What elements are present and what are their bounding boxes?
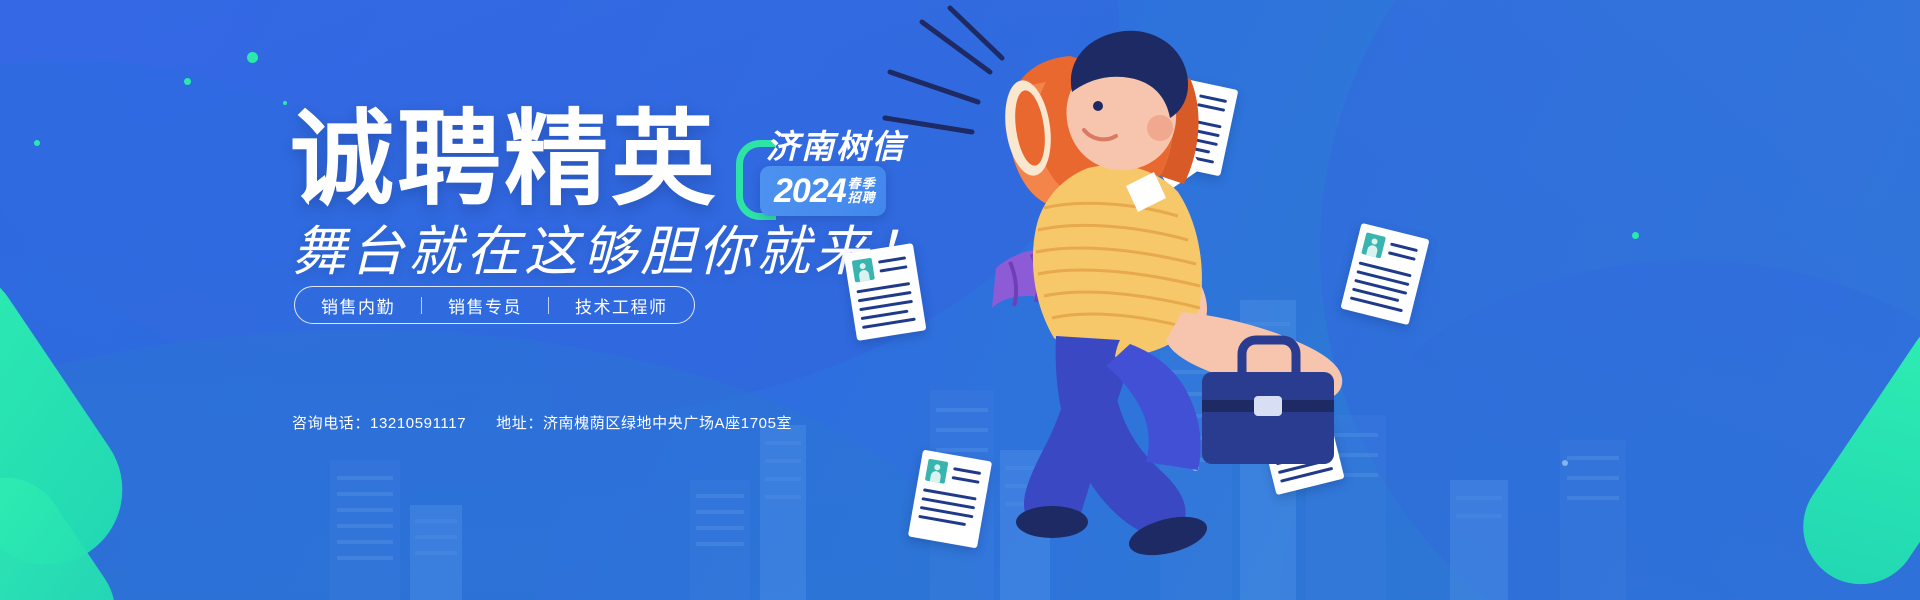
recruitment-banner: 诚聘精英 济南树信 2024 春季 招聘 舞台就在这够胆你就来！ 销售内勤 销售… (0, 0, 1920, 600)
job-separator (421, 297, 422, 314)
person-back-shoe (1016, 506, 1088, 538)
recruitment-illustration (830, 0, 1920, 600)
page-title: 诚聘精英 (290, 108, 718, 212)
job-item-technical-engineer[interactable]: 技术工程师 (575, 293, 668, 318)
person-with-megaphone-illustration (830, 0, 1920, 600)
job-positions-pill: 销售内勤 销售专员 技术工程师 (294, 286, 695, 324)
job-separator (548, 297, 549, 314)
contact-footer: 咨询电话：13210591117 地址：济南槐荫区绿地中央广场A座1705室 (292, 412, 792, 433)
sound-lines-icon (885, 8, 1002, 132)
contact-phone: 咨询电话：13210591117 (292, 412, 466, 433)
job-item-sales-assistant[interactable]: 销售内勤 (321, 293, 395, 318)
job-item-sales-specialist[interactable]: 销售专员 (448, 293, 522, 318)
contact-address: 地址：济南槐荫区绿地中央广场A座1705室 (496, 412, 792, 433)
